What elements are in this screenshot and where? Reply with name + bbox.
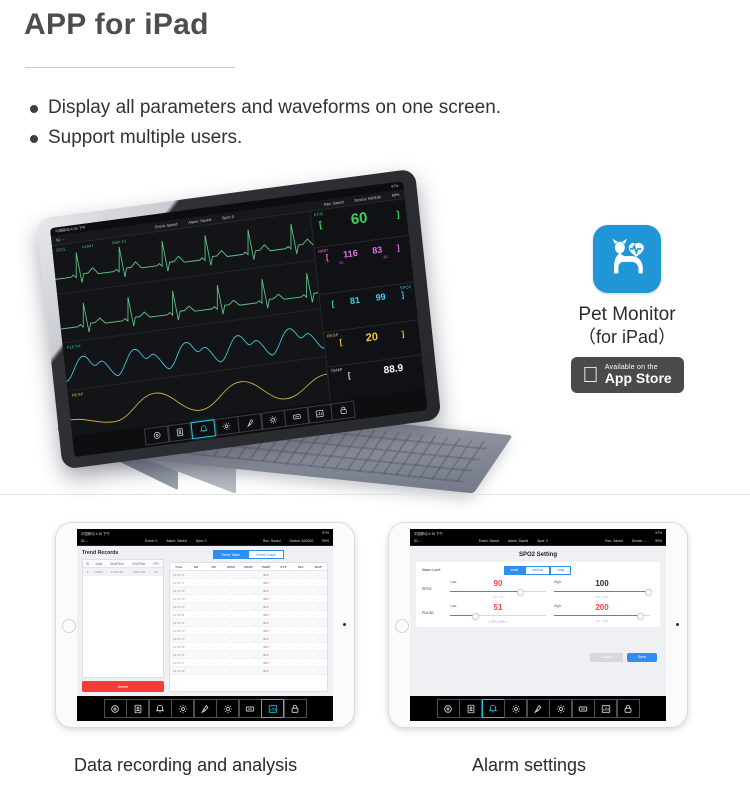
col-time: Time xyxy=(170,563,187,570)
table-row[interactable]: 10:54:25------------36.5--------- xyxy=(170,643,327,651)
segment-large[interactable]: large xyxy=(550,566,571,575)
status-battery: 97% xyxy=(655,531,662,535)
table-cell: --- xyxy=(310,603,327,610)
table-row[interactable]: 10:54:20------------36.5--------- xyxy=(170,603,327,611)
record-icon[interactable] xyxy=(437,699,460,718)
table-cell: --- xyxy=(205,571,222,578)
status-event[interactable]: Event: Saved xyxy=(479,539,499,543)
table-cell: --- xyxy=(275,667,292,674)
table-cell: --- xyxy=(310,643,327,650)
table-cell: --- xyxy=(222,611,239,618)
table-cell: 36.5 xyxy=(257,579,274,586)
high-slider[interactable] xyxy=(554,589,650,594)
list-item: Display all parameters and waveforms on … xyxy=(30,96,690,120)
table-cell: --- xyxy=(275,635,292,642)
bullet-text: Support multiple users. xyxy=(48,126,242,150)
table-cell: 10:54:20 xyxy=(170,603,187,610)
cell-endtime: 10:54:28 xyxy=(128,568,150,575)
cell-starttime: 10:54:16 xyxy=(106,568,128,575)
high-value: 100 xyxy=(554,579,650,588)
table-row[interactable]: 10:54:16------------36.5--------- xyxy=(170,571,327,579)
status-carrier: 中国移动 4:35 下午 xyxy=(414,531,443,536)
trend-icon[interactable] xyxy=(261,699,284,718)
slider-fill xyxy=(450,615,474,616)
table-cell: --- xyxy=(310,667,327,674)
table-cell: 10:54:26 xyxy=(170,651,187,658)
spo2-high-control: High: 100 (80 - 100) xyxy=(550,580,654,599)
table-cell: --- xyxy=(292,627,309,634)
trend-table: Time HR PR SPO2 RESP TEMP SYS DIA MAP 10… xyxy=(169,562,328,692)
col-spo2: SPO2 xyxy=(222,563,239,570)
tablet-screen: 中国移动 4:35 下午 97% ID: -- Event: Saved Ala… xyxy=(50,181,427,457)
status-signal: 99% xyxy=(655,539,662,543)
table-cell: --- xyxy=(240,659,257,666)
cancel-button[interactable]: Cancel xyxy=(590,653,623,662)
low-range: (70 - 99) xyxy=(450,595,546,599)
table-cell: --- xyxy=(222,595,239,602)
patient-id[interactable]: ID: -- xyxy=(81,539,89,543)
table-cell: 36.5 xyxy=(257,595,274,602)
alarm-bracket-icon: ] xyxy=(401,329,405,338)
apple-logo-icon:  xyxy=(582,364,599,386)
col-sys: SYS xyxy=(275,563,292,570)
camera-icon xyxy=(343,623,346,626)
title-divider xyxy=(25,67,235,68)
table-cell: --- xyxy=(275,651,292,658)
settings-icon[interactable] xyxy=(504,699,527,718)
alarm-bracket-icon: [ xyxy=(339,337,343,346)
table-cell: --- xyxy=(205,603,222,610)
main-tablet: 中国移动 4:35 下午 97% ID: -- Event: Saved Ala… xyxy=(36,168,441,469)
lock-icon[interactable] xyxy=(617,699,640,718)
table-cell: --- xyxy=(187,611,204,618)
spo2-limit-group: SPO2 Low: 90 (70 - 99) H xyxy=(422,580,654,599)
table-cell: --- xyxy=(292,587,309,594)
camera-icon xyxy=(676,623,679,626)
table-cell: --- xyxy=(222,579,239,586)
freeze-icon[interactable] xyxy=(194,699,217,718)
table-cell: --- xyxy=(222,659,239,666)
param-value-2: 99 xyxy=(375,292,386,302)
status-spot[interactable]: Spot: 0 xyxy=(537,539,548,543)
alarm-limit-row: Alarm Limit: small medium large xyxy=(422,566,654,575)
slider-fill xyxy=(450,591,519,592)
alarm-settings-tablet: 中国移动 4:35 下午 97% ID: -- Event: Saved Ala… xyxy=(388,522,688,728)
home-button[interactable] xyxy=(395,619,409,633)
table-cell: --- xyxy=(275,627,292,634)
status-battery: 97% xyxy=(391,184,399,189)
table-cell: --- xyxy=(205,595,222,602)
status-rec[interactable]: Rec: Saved xyxy=(605,539,623,543)
table-cell: --- xyxy=(292,611,309,618)
status-signal: 99% xyxy=(392,192,400,197)
col-id: ID xyxy=(83,560,92,567)
table-cell: 10:54:24 xyxy=(170,635,187,642)
table-cell: 36.5 xyxy=(257,627,274,634)
table-cell: --- xyxy=(292,595,309,602)
low-slider[interactable] xyxy=(450,613,546,618)
alarm-icon[interactable] xyxy=(482,699,505,718)
table-body: 10:54:16------------36.5---------10:54:1… xyxy=(170,571,327,675)
table-cell: 36.5 xyxy=(257,659,274,666)
param-map: 81 xyxy=(339,260,343,265)
status-battery: 97% xyxy=(322,531,329,535)
high-value: 200 xyxy=(554,603,650,612)
table-cell: --- xyxy=(222,587,239,594)
table-cell: --- xyxy=(187,619,204,626)
alarm-icon[interactable] xyxy=(149,699,172,718)
table-cell: 10:54:16 xyxy=(170,571,187,578)
col-endtime: EndTime xyxy=(128,560,150,567)
col-hr: HR xyxy=(187,563,204,570)
slider-fill xyxy=(554,591,647,592)
dialog-actions: Cancel Save xyxy=(416,653,660,662)
cell-date: 08/03 xyxy=(92,568,106,575)
table-cell: --- xyxy=(205,587,222,594)
status-rec[interactable]: Rec: Saved xyxy=(324,200,344,207)
table-row[interactable]: 10:54:19------------36.5--------- xyxy=(170,595,327,603)
table-cell: --- xyxy=(240,635,257,642)
app-store-big-text: App Store xyxy=(605,371,672,386)
status-rec[interactable]: Rec: Saved xyxy=(263,539,281,543)
table-cell: --- xyxy=(205,643,222,650)
table-cell: --- xyxy=(292,659,309,666)
info-text: Nurse placement xyxy=(488,621,508,624)
section-divider xyxy=(0,494,750,495)
segment-small[interactable]: small xyxy=(504,566,525,575)
freeze-icon[interactable] xyxy=(527,699,550,718)
monitor-top-bar: ID: -- Event: 0 Alarm: Saved Spot: 0 Rec… xyxy=(77,537,333,546)
table-row[interactable]: 10:54:26------------36.5--------- xyxy=(170,651,327,659)
monitor-toolbar xyxy=(410,696,666,721)
brightness-icon[interactable] xyxy=(216,699,239,718)
table-cell: --- xyxy=(292,667,309,674)
pulse-high-control: High: 200 (50 - 230) xyxy=(550,604,654,623)
table-cell: --- xyxy=(240,595,257,602)
table-cell: --- xyxy=(310,651,327,658)
slider-knob[interactable] xyxy=(517,589,524,596)
alarm-limit-card: Alarm Limit: small medium large SPO2 Low… xyxy=(416,562,660,627)
table-row[interactable]: 10:54:27------------36.5--------- xyxy=(170,659,327,667)
table-cell: --- xyxy=(187,587,204,594)
table-cell: 36.5 xyxy=(257,603,274,610)
trend-table-area: Trend Table Trend Graph Time HR PR SPO2 … xyxy=(169,550,328,692)
slider-knob[interactable] xyxy=(472,613,479,620)
status-event[interactable]: Event: Saved xyxy=(155,222,178,229)
table-cell: --- xyxy=(240,571,257,578)
table-cell: --- xyxy=(205,619,222,626)
table-cell: --- xyxy=(240,651,257,658)
cell-pid: 01 xyxy=(150,568,162,575)
table-cell: --- xyxy=(275,587,292,594)
low-slider[interactable] xyxy=(450,589,546,594)
display-icon[interactable] xyxy=(239,699,262,718)
param-value: 88.9 xyxy=(383,364,403,377)
group-label: SPO2 xyxy=(422,587,446,591)
table-cell: --- xyxy=(240,643,257,650)
table-cell: --- xyxy=(292,603,309,610)
save-button[interactable]: Save xyxy=(627,653,657,662)
table-cell: --- xyxy=(275,603,292,610)
param-sys: 116 xyxy=(343,248,358,259)
table-cell: --- xyxy=(222,619,239,626)
high-slider[interactable] xyxy=(554,613,650,618)
table-cell: --- xyxy=(187,659,204,666)
waveform-area: ECG Lead I Gain X1 xyxy=(52,212,330,436)
col-pr: PR xyxy=(205,563,222,570)
table-cell: --- xyxy=(240,619,257,626)
table-cell: 36.5 xyxy=(257,667,274,674)
patient-icon[interactable] xyxy=(126,699,149,718)
size-segmented-control: small medium large xyxy=(504,566,572,575)
low-value: 90 xyxy=(450,579,546,588)
table-cell: --- xyxy=(222,603,239,610)
table-cell: --- xyxy=(275,643,292,650)
col-date: Date xyxy=(92,560,106,567)
slider-knob[interactable] xyxy=(637,613,644,620)
status-alarm[interactable]: Alarm: Saved xyxy=(188,217,211,224)
table-cell: --- xyxy=(187,635,204,642)
lock-icon[interactable] xyxy=(284,699,307,718)
table-cell: --- xyxy=(275,659,292,666)
ios-status-bar: 中国移动 4:35 下午 97% xyxy=(77,529,333,537)
table-cell: --- xyxy=(187,603,204,610)
table-cell: --- xyxy=(240,579,257,586)
table-cell: 36.5 xyxy=(257,619,274,626)
display-icon[interactable] xyxy=(572,699,595,718)
table-cell: --- xyxy=(275,571,292,578)
high-range: (80 - 100) xyxy=(554,595,650,599)
high-range: (50 - 230) xyxy=(554,619,650,623)
monitor-app: 中国移动 4:35 下午 97% ID: -- Event: Saved Ala… xyxy=(50,181,427,457)
spo2-setting-screen: SPO2 Setting Alarm Limit: small medium l… xyxy=(410,546,666,696)
table-cell: --- xyxy=(240,667,257,674)
table-cell: --- xyxy=(205,659,222,666)
alarm-limit-label: Alarm Limit: xyxy=(422,568,441,572)
table-cell: --- xyxy=(205,579,222,586)
table-cell: --- xyxy=(187,651,204,658)
param-value: 81 xyxy=(349,295,360,305)
bullet-dot-icon xyxy=(30,105,38,113)
trend-records-screen: Trend Records ID Date StartTime EndTime … xyxy=(77,546,333,696)
table-cell: --- xyxy=(222,667,239,674)
table-cell: --- xyxy=(240,627,257,634)
home-button[interactable] xyxy=(62,619,76,633)
table-cell: --- xyxy=(292,579,309,586)
status-alarm[interactable]: Alarm: Saved xyxy=(508,539,528,543)
monitor-toolbar xyxy=(77,696,333,721)
group-label: PULSE xyxy=(422,611,446,615)
table-cell: --- xyxy=(240,611,257,618)
alarm-bracket-icon: ] xyxy=(401,290,405,299)
spo2-low-control: Low: 90 (70 - 99) xyxy=(446,580,550,599)
table-row[interactable]: 1 08/03 10:54:16 10:54:28 01 xyxy=(83,568,163,576)
records-header-row: ID Date StartTime EndTime PID xyxy=(83,560,163,568)
dog-heart-glyph xyxy=(604,236,650,282)
alarm-bracket-icon: [ xyxy=(331,299,335,308)
table-cell: --- xyxy=(205,635,222,642)
record-icon[interactable] xyxy=(104,699,127,718)
col-resp: RESP xyxy=(240,563,257,570)
table-cell: --- xyxy=(187,643,204,650)
delete-button[interactable]: Delete xyxy=(82,681,164,692)
ios-status-bar: 中国移动 4:35 下午 97% xyxy=(410,529,666,537)
table-cell: 10:54:21 xyxy=(170,611,187,618)
bullet-dot-icon xyxy=(30,135,38,143)
app-name: Pet Monitor xyxy=(547,304,707,326)
table-row[interactable]: 10:54:24------------36.5--------- xyxy=(170,635,327,643)
param-extra: 82 xyxy=(383,254,387,259)
table-cell: 36.5 xyxy=(257,643,274,650)
table-cell: --- xyxy=(275,619,292,626)
table-cell: --- xyxy=(275,579,292,586)
pulse-limit-group: PULSE Low: 51 ⓘ Nurse placement xyxy=(422,604,654,623)
table-row[interactable]: 10:54:28------------36.5--------- xyxy=(170,667,327,675)
table-cell: --- xyxy=(222,651,239,658)
alarm-bracket-icon: ] xyxy=(396,243,400,252)
table-cell: --- xyxy=(222,643,239,650)
col-pid: PID xyxy=(150,560,162,567)
parameter-panel: ECG [ 60 ] NIBP [ 116 xyxy=(310,199,425,402)
table-cell: --- xyxy=(187,595,204,602)
table-row[interactable]: 10:54:18------------36.5--------- xyxy=(170,587,327,595)
trend-records-list: Trend Records ID Date StartTime EndTime … xyxy=(82,550,164,692)
page-title: Trend Records xyxy=(82,550,164,556)
bullet-text: Display all parameters and waveforms on … xyxy=(48,96,501,120)
table-cell: 36.5 xyxy=(257,571,274,578)
table-cell: 10:54:27 xyxy=(170,659,187,666)
trend-view-tabs: Trend Table Trend Graph xyxy=(169,550,328,559)
table-cell: --- xyxy=(222,635,239,642)
feature-bullet-list: Display all parameters and waveforms on … xyxy=(30,96,690,156)
table-cell: --- xyxy=(310,611,327,618)
table-cell: --- xyxy=(310,587,327,594)
table-row[interactable]: 10:54:21------------36.5--------- xyxy=(170,611,327,619)
table-cell: 10:54:18 xyxy=(170,587,187,594)
status-device[interactable]: Device: A00100 xyxy=(289,539,313,543)
table-cell: --- xyxy=(240,603,257,610)
list-item: Support multiple users. xyxy=(30,126,690,150)
col-temp: TEMP xyxy=(257,563,274,570)
app-platform: （for iPad） xyxy=(547,326,707,348)
table-cell: --- xyxy=(222,627,239,634)
alarm-bracket-icon: [ xyxy=(319,219,323,229)
lock-icon[interactable] xyxy=(330,401,356,421)
table-cell: 36.5 xyxy=(257,611,274,618)
cell-id: 1 xyxy=(83,568,92,575)
table-cell: 36.5 xyxy=(257,635,274,642)
table-row[interactable]: 10:54:23------------36.5--------- xyxy=(170,627,327,635)
status-event[interactable]: Event: 0 xyxy=(145,539,157,543)
app-store-button[interactable]:  Available on the App Store xyxy=(571,357,684,393)
table-cell: --- xyxy=(240,587,257,594)
status-signal: 99% xyxy=(322,539,329,543)
table-cell: --- xyxy=(187,627,204,634)
col-map: MAP xyxy=(310,563,327,570)
param-value: 20 xyxy=(365,331,378,344)
table-cell: --- xyxy=(205,667,222,674)
table-row[interactable]: 10:54:17------------36.5--------- xyxy=(170,579,327,587)
slider-knob[interactable] xyxy=(645,589,652,596)
table-cell: --- xyxy=(292,643,309,650)
tablet-screen: 中国移动 4:35 下午 97% ID: -- Event: 0 Alarm: … xyxy=(77,529,333,721)
page-title: APP for iPad xyxy=(24,8,209,42)
pet-monitor-app-icon[interactable] xyxy=(593,225,661,293)
status-carrier: 中国移动 4:35 下午 xyxy=(81,531,110,536)
trend-records-tablet: 中国移动 4:35 下午 97% ID: -- Event: 0 Alarm: … xyxy=(55,522,355,728)
table-cell: --- xyxy=(292,619,309,626)
alarm-bracket-icon: ] xyxy=(396,208,400,218)
table-cell: --- xyxy=(275,611,292,618)
table-cell: --- xyxy=(222,571,239,578)
table-cell: --- xyxy=(187,579,204,586)
table-cell: --- xyxy=(310,659,327,666)
table-cell: --- xyxy=(292,571,309,578)
app-badge: Pet Monitor （for iPad）  Available on th… xyxy=(547,225,707,393)
table-cell: --- xyxy=(205,611,222,618)
brightness-icon[interactable] xyxy=(549,699,572,718)
segment-medium[interactable]: medium xyxy=(525,566,550,575)
page-title: SPO2 Setting xyxy=(416,552,660,558)
table-cell: 10:54:22 xyxy=(170,619,187,626)
table-cell: --- xyxy=(292,635,309,642)
table-cell: --- xyxy=(187,571,204,578)
tab-trend-table[interactable]: Trend Table xyxy=(213,550,248,559)
table-cell: --- xyxy=(205,651,222,658)
alarm-bracket-icon: [ xyxy=(325,252,329,261)
caption-data-recording: Data recording and analysis xyxy=(74,755,297,776)
status-spot[interactable]: Spot: 0 xyxy=(196,539,207,543)
table-row[interactable]: 10:54:22------------36.5--------- xyxy=(170,619,327,627)
trend-icon[interactable] xyxy=(594,699,617,718)
pulse-low-control: Low: 51 ⓘ Nurse placement (30 xyxy=(446,604,550,623)
table-cell: --- xyxy=(310,619,327,626)
table-cell: --- xyxy=(310,579,327,586)
table-cell: 36.5 xyxy=(257,587,274,594)
patient-id[interactable]: ID: -- xyxy=(56,237,65,242)
table-cell: --- xyxy=(310,595,327,602)
table-cell: --- xyxy=(310,635,327,642)
status-device[interactable]: Device: A00100 xyxy=(354,195,381,202)
settings-icon[interactable] xyxy=(171,699,194,718)
tablet-screen: 中国移动 4:35 下午 97% ID: -- Event: Saved Ala… xyxy=(410,529,666,721)
tab-trend-graph[interactable]: Trend Graph xyxy=(248,550,284,559)
table-cell: --- xyxy=(205,627,222,634)
status-device[interactable]: Device: -- xyxy=(632,539,647,543)
table-cell: --- xyxy=(292,651,309,658)
col-starttime: StartTime xyxy=(106,560,128,567)
table-cell: --- xyxy=(187,667,204,674)
status-spot[interactable]: Spot: 0 xyxy=(222,214,234,220)
table-cell: 10:54:23 xyxy=(170,627,187,634)
table-cell: 10:54:28 xyxy=(170,667,187,674)
table-cell: --- xyxy=(310,571,327,578)
caption-alarm-settings: Alarm settings xyxy=(472,755,586,776)
hero-device-illustration: 中国移动 4:35 下午 97% ID: -- Event: Saved Ala… xyxy=(0,195,540,485)
table-cell: 10:54:19 xyxy=(170,595,187,602)
table-cell: 10:54:17 xyxy=(170,579,187,586)
table-cell: 36.5 xyxy=(257,651,274,658)
status-alarm[interactable]: Alarm: Saved xyxy=(166,539,186,543)
table-cell: 10:54:25 xyxy=(170,643,187,650)
table-header-row: Time HR PR SPO2 RESP TEMP SYS DIA MAP xyxy=(170,563,327,571)
slider-fill xyxy=(554,615,638,616)
table-cell: --- xyxy=(275,595,292,602)
patient-id[interactable]: ID: -- xyxy=(414,539,422,543)
patient-icon[interactable] xyxy=(459,699,482,718)
monitor-top-bar: ID: -- Event: Saved Alarm: Saved Spot: 0… xyxy=(410,537,666,546)
param-value: 60 xyxy=(350,210,368,227)
